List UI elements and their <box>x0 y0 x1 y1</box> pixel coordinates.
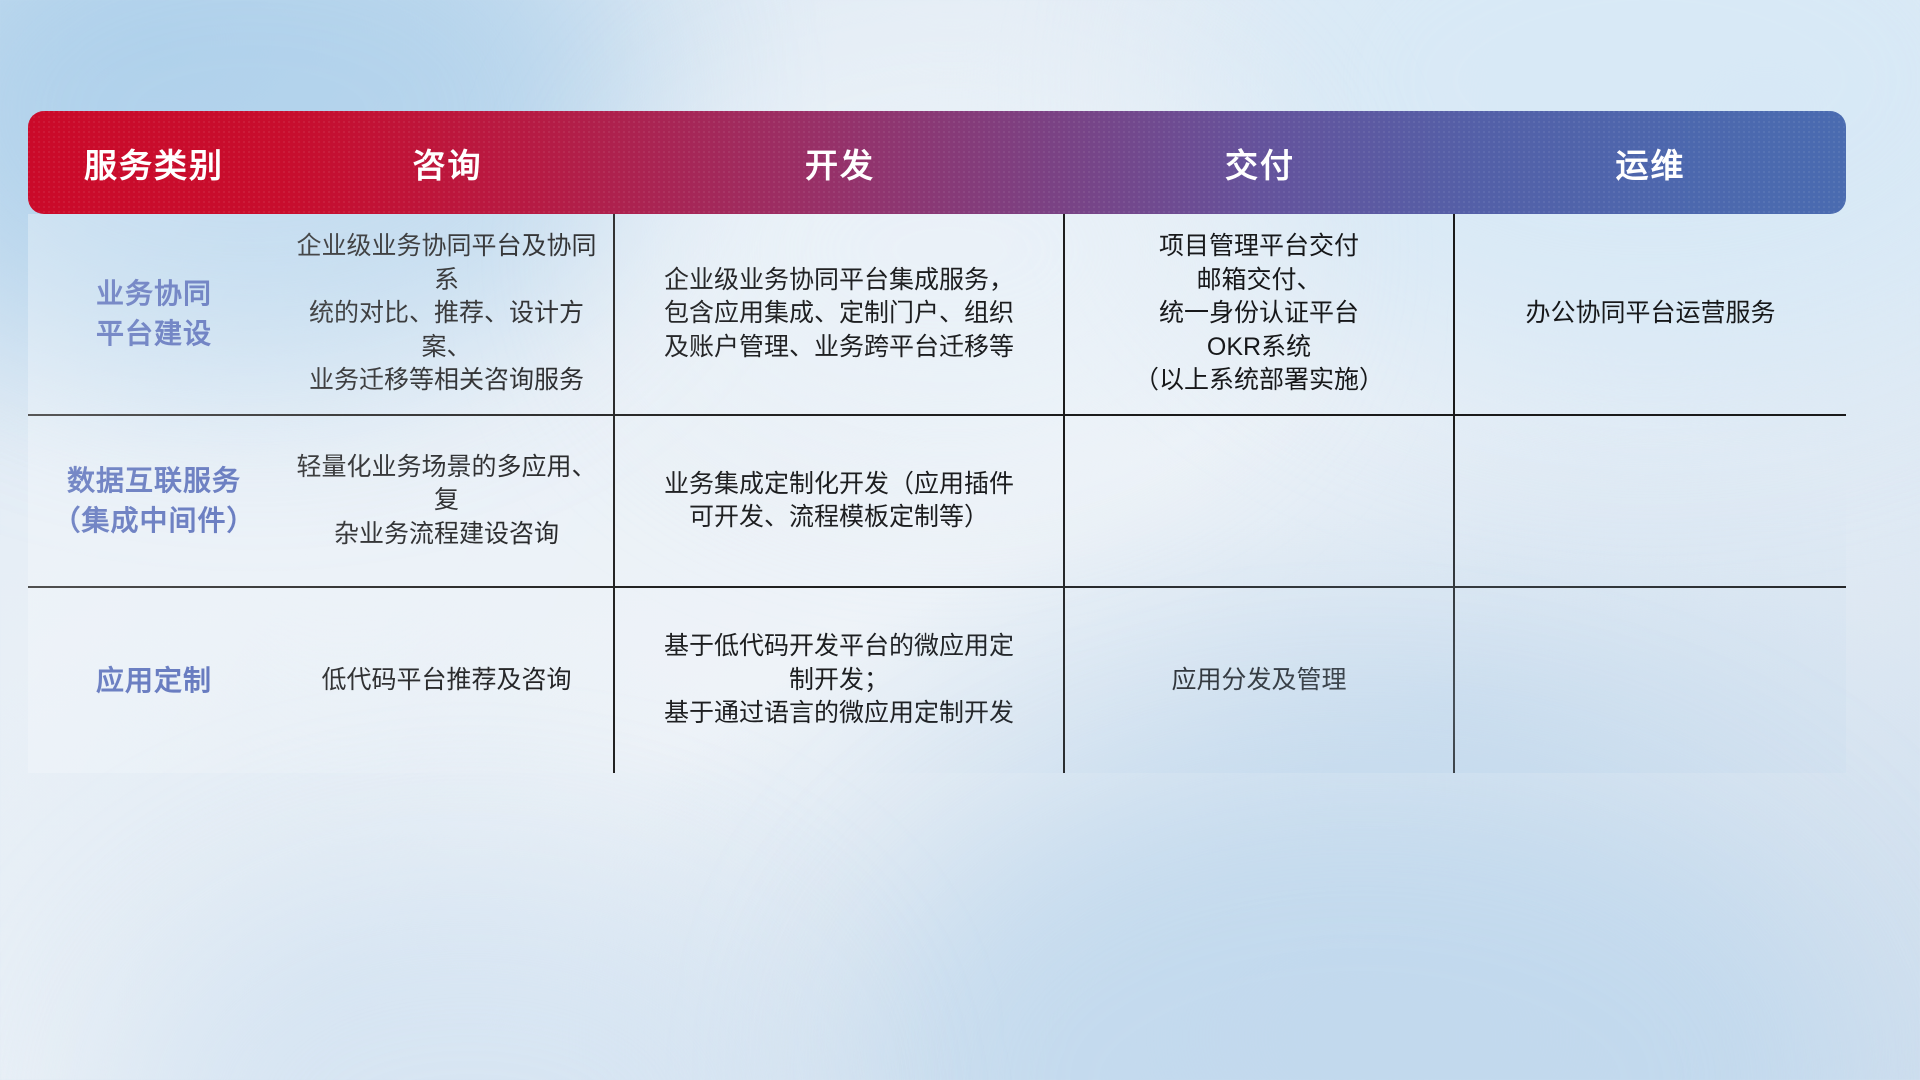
cell-operations: 办公协同平台运营服务 <box>1455 214 1846 416</box>
table-header: 服务类别 咨询 开发 交付 运维 <box>28 111 1846 214</box>
cell-delivery <box>1065 416 1455 588</box>
cell-delivery: 应用分发及管理 <box>1065 588 1455 773</box>
service-matrix-table-wrapper: 服务类别 咨询 开发 交付 运维 业务协同 平台建设 企业级业务协同平台及协 <box>28 111 1846 773</box>
column-header-service-category: 服务类别 <box>28 111 280 214</box>
column-header-label: 交付 <box>1225 147 1295 184</box>
table-body: 业务协同 平台建设 企业级业务协同平台及协同系 统的对比、推荐、设计方案、 业务… <box>28 214 1846 773</box>
column-header-consulting: 咨询 <box>280 111 615 214</box>
cell-development: 业务集成定制化开发（应用插件 可开发、流程模板定制等） <box>615 416 1065 588</box>
table-header-row: 服务类别 咨询 开发 交付 运维 <box>28 111 1846 214</box>
column-header-delivery: 交付 <box>1065 111 1455 214</box>
column-header-label: 服务类别 <box>84 147 224 184</box>
column-header-operations: 运维 <box>1455 111 1846 214</box>
cell-consulting: 企业级业务协同平台及协同系 统的对比、推荐、设计方案、 业务迁移等相关咨询服务 <box>280 214 615 416</box>
table-row: 业务协同 平台建设 企业级业务协同平台及协同系 统的对比、推荐、设计方案、 业务… <box>28 214 1846 416</box>
background-blob <box>120 880 820 1080</box>
row-category-label: 数据互联服务 （集成中间件） <box>28 416 280 588</box>
background-blob <box>860 760 1860 1080</box>
column-header-development: 开发 <box>615 111 1065 214</box>
cell-consulting: 轻量化业务场景的多应用、复 杂业务流程建设咨询 <box>280 416 615 588</box>
column-header-label: 咨询 <box>413 147 483 184</box>
table-row: 数据互联服务 （集成中间件） 轻量化业务场景的多应用、复 杂业务流程建设咨询 业… <box>28 416 1846 588</box>
table-row: 应用定制 低代码平台推荐及咨询 基于低代码开发平台的微应用定 制开发； 基于通过… <box>28 588 1846 773</box>
cell-consulting: 低代码平台推荐及咨询 <box>280 588 615 773</box>
row-category-label: 业务协同 平台建设 <box>28 214 280 416</box>
column-header-label: 开发 <box>805 147 875 184</box>
cell-delivery: 项目管理平台交付 邮箱交付、 统一身份认证平台 OKR系统 （以上系统部署实施） <box>1065 214 1455 416</box>
cell-development: 基于低代码开发平台的微应用定 制开发； 基于通过语言的微应用定制开发 <box>615 588 1065 773</box>
column-header-label: 运维 <box>1616 147 1686 184</box>
row-category-label: 应用定制 <box>28 588 280 773</box>
cell-operations <box>1455 588 1846 773</box>
cell-operations <box>1455 416 1846 588</box>
service-matrix-table: 服务类别 咨询 开发 交付 运维 业务协同 平台建设 企业级业务协同平台及协 <box>28 111 1846 773</box>
cell-development: 企业级业务协同平台集成服务， 包含应用集成、定制门户、组织 及账户管理、业务跨平… <box>615 214 1065 416</box>
